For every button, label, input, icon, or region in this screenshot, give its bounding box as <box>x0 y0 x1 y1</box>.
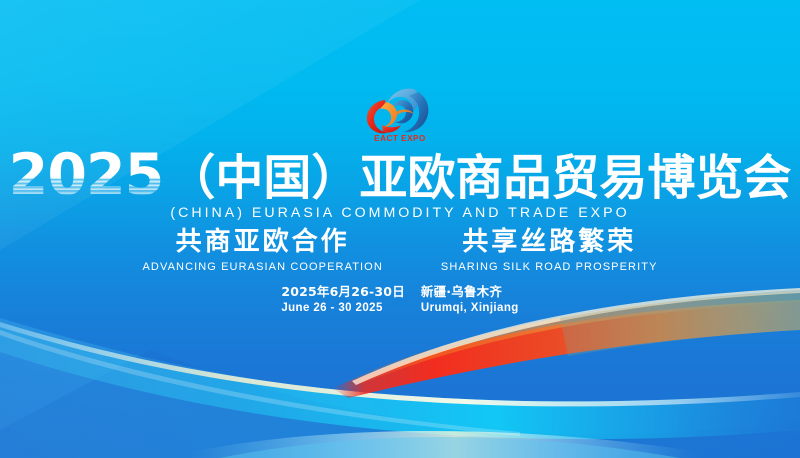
slogan-1-cn: 共商亚欧合作 <box>142 228 382 257</box>
logo-wordmark: EACT EXPO <box>374 134 426 143</box>
event-venue-cn: 新疆·乌鲁木齐 <box>421 284 519 301</box>
expo-banner: EACT EXPO 2025 （中国）亚欧商品贸易博览会 (CHINA) EUR… <box>0 0 800 458</box>
headline-block: 2025 （中国）亚欧商品贸易博览会 (CHINA) EURASIA COMMO… <box>0 148 800 221</box>
slogan-2-en: SHARING SILK ROAD PROSPERITY <box>441 261 658 273</box>
event-date-col: 2025年6月26-30日 June 26 - 30 2025 <box>281 284 405 316</box>
event-venue-col: 新疆·乌鲁木齐 Urumqi, Xinjiang <box>421 284 519 316</box>
slogans-row: 共商亚欧合作 ADVANCING EURASIAN COOPERATION 共享… <box>0 228 800 273</box>
event-venue-en: Urumqi, Xinjiang <box>421 301 519 317</box>
eact-expo-logo-icon: EACT EXPO <box>352 82 448 144</box>
slogan-2-cn: 共享丝路繁荣 <box>441 228 658 257</box>
title-row: 2025 （中国）亚欧商品贸易博览会 <box>0 148 800 202</box>
slogan-2: 共享丝路繁荣 SHARING SILK ROAD PROSPERITY <box>441 228 658 273</box>
event-meta: 2025年6月26-30日 June 26 - 30 2025 新疆·乌鲁木齐 … <box>0 284 800 316</box>
slogan-1: 共商亚欧合作 ADVANCING EURASIAN COOPERATION <box>142 228 382 273</box>
event-date-cn: 2025年6月26-30日 <box>281 284 405 301</box>
slogan-1-en: ADVANCING EURASIAN COOPERATION <box>142 261 382 273</box>
logo-container: EACT EXPO <box>0 82 800 144</box>
logo-red-tail <box>382 125 401 133</box>
event-year: 2025 <box>9 148 166 202</box>
event-date-en: June 26 - 30 2025 <box>281 301 405 317</box>
event-title-cn: （中国）亚欧商品贸易博览会 <box>167 154 791 202</box>
